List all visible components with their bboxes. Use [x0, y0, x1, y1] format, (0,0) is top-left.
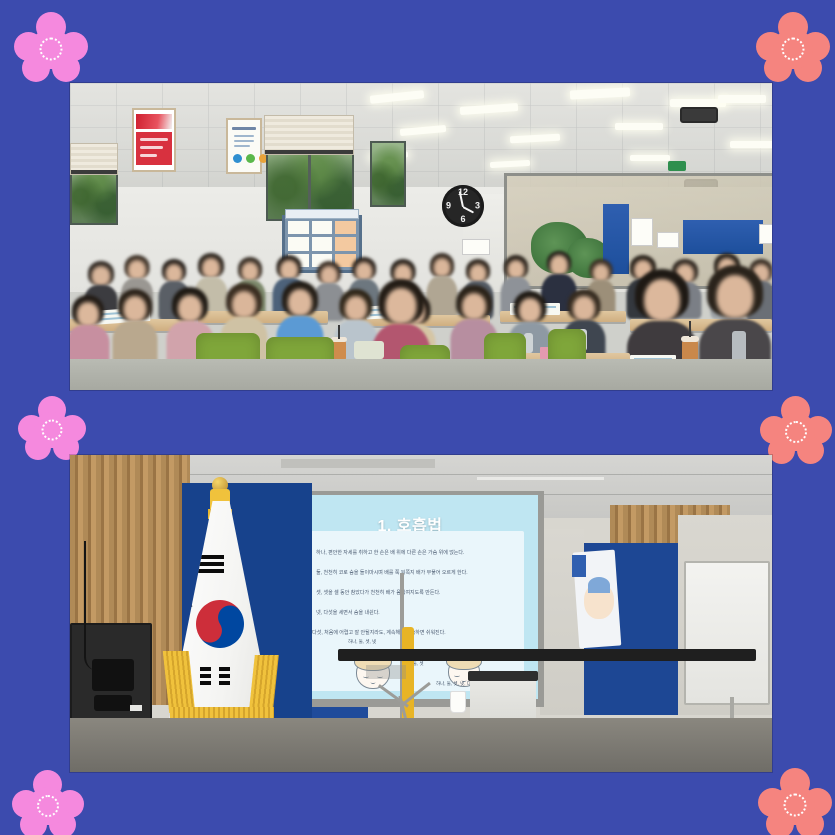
slide-bullet: 넷, 다섯을 세면서 숨을 내쉰다.	[310, 609, 380, 616]
head-blurred	[124, 296, 147, 322]
seminar-hall-scene: 1. 호흡법 하나, 편안한 자세를 취하고 한 손은 배 위에 다른 손은 가…	[70, 455, 772, 772]
poster-line	[234, 140, 254, 142]
ceiling-light	[630, 155, 670, 161]
flower-bottom-right	[758, 768, 832, 835]
poster-icon-row	[233, 154, 268, 163]
blind-bottom-bar	[71, 170, 117, 174]
ceiling-vent	[281, 459, 435, 468]
slide-bullet: 셋, 셋을 셀 동안 참았다가 천천히 배가 움직여지도록 만든다.	[310, 589, 440, 596]
board-sheet	[288, 221, 309, 234]
poster-canvas: 12 3 6 9	[0, 0, 835, 835]
head-blurred	[434, 258, 451, 277]
flower-core-dots	[784, 794, 807, 817]
lectern-top-panel	[468, 671, 538, 681]
standee-banner-text	[572, 555, 586, 577]
head-blurred	[345, 296, 367, 321]
board-sheet	[312, 221, 333, 234]
poster-line	[234, 135, 254, 137]
board-sheet	[335, 221, 356, 234]
head-blurred	[280, 260, 298, 280]
classroom-audience-photo: 12 3 6 9	[70, 83, 772, 390]
clock-hour-hand	[463, 206, 475, 213]
poster-line	[234, 145, 251, 147]
flower-mid-left	[18, 396, 86, 464]
trigram-gon-right	[219, 667, 230, 688]
notice-poster	[226, 118, 262, 174]
exit-sign	[668, 161, 686, 171]
ceiling-light-strip	[477, 477, 603, 480]
whiteboard-tray	[338, 649, 756, 661]
wall-clock: 12 3 6 9	[442, 185, 484, 227]
straw	[689, 321, 691, 337]
flower-core-dots	[37, 795, 59, 817]
floor	[70, 718, 772, 772]
slide-bullet: 하나, 편안한 자세를 취하고 한 손은 배 위에 다른 손은 가슴 위에 얹는…	[310, 549, 464, 556]
roller-blind-center	[264, 115, 354, 155]
ceiling-speaker	[680, 107, 718, 123]
ceiling-light	[718, 95, 766, 103]
head-blurred	[242, 262, 259, 281]
head-blurred	[644, 279, 680, 321]
poster-line	[232, 127, 256, 130]
head-blurred	[386, 288, 417, 324]
info-board	[683, 220, 763, 254]
flower-core-dots	[40, 38, 63, 61]
mobile-whiteboard	[684, 561, 770, 705]
standee-hair	[588, 577, 610, 593]
straw	[338, 325, 340, 339]
head-blurred	[550, 255, 568, 276]
slide-bullet: 둘, 천천히 코로 숨을 들이마시며 배를 쭉 뒤쪽지 배가 부풀어 오르게 한…	[310, 569, 468, 576]
head-blurred	[128, 260, 146, 280]
clock-number-6: 6	[460, 215, 465, 224]
taeguk-symbol	[186, 590, 252, 656]
attendee	[112, 289, 158, 367]
cartoon-eye	[454, 674, 460, 677]
ceiling-light	[615, 123, 663, 130]
notice-sheet	[759, 224, 772, 244]
cartoon-mouth	[371, 680, 376, 684]
head-blurred	[92, 266, 111, 286]
flower-top-right	[756, 12, 830, 86]
board-sheet	[288, 237, 309, 250]
notice-sheet	[631, 218, 653, 246]
speaker-label	[130, 705, 142, 711]
blind-bottom-bar	[265, 150, 353, 154]
breathing-count-label-left: 하나, 둘, 셋, 넷	[348, 639, 376, 645]
board-header-strip	[285, 209, 359, 219]
flower-core-dots	[785, 421, 807, 443]
window-far-right	[370, 141, 406, 207]
floor	[70, 359, 772, 390]
classroom-scene: 12 3 6 9	[70, 83, 772, 390]
head-blurred	[573, 296, 595, 321]
head-blurred	[519, 298, 541, 323]
clock-number-9: 9	[446, 202, 451, 211]
head-blurred	[462, 293, 486, 320]
paper-cup	[450, 691, 466, 713]
head-blurred	[178, 295, 202, 322]
clock-number-3: 3	[475, 202, 480, 211]
speaker-connector-panel	[94, 695, 132, 711]
trigram-gon	[200, 667, 211, 688]
notice-sheet	[657, 232, 679, 248]
slide-bullet: 다섯, 처음에 어렵고 잘 안될지라도, 계속해서 연습하면 쉬워진다.	[306, 629, 446, 636]
roller-blind-left	[70, 143, 118, 175]
wall-notice	[462, 239, 490, 255]
speaker-cable	[84, 541, 112, 671]
tissue-box	[354, 341, 384, 359]
flower-top-left	[14, 12, 88, 86]
flower-core-dots	[42, 420, 63, 441]
window-foliage	[372, 143, 404, 205]
ceiling-light	[730, 141, 772, 148]
wall-lettering	[366, 665, 406, 679]
flower-core-dots	[782, 38, 805, 61]
head-blurred	[232, 291, 256, 318]
red-safety-poster	[132, 108, 176, 172]
head-blurred	[288, 289, 312, 316]
poster-header-band	[136, 114, 171, 130]
trigram-geon	[198, 555, 224, 576]
presentation-screen-photo: 1. 호흡법 하나, 편안한 자세를 취하고 한 손은 배 위에 다른 손은 가…	[70, 455, 772, 772]
poster-text-lines	[140, 138, 169, 181]
flower-bottom-left	[12, 770, 84, 835]
head-blurred	[77, 302, 99, 327]
head-blurred	[717, 275, 754, 318]
board-sheet	[335, 237, 356, 250]
head-blurred	[202, 258, 220, 278]
board-sheet	[312, 237, 333, 250]
attendee	[70, 295, 110, 369]
